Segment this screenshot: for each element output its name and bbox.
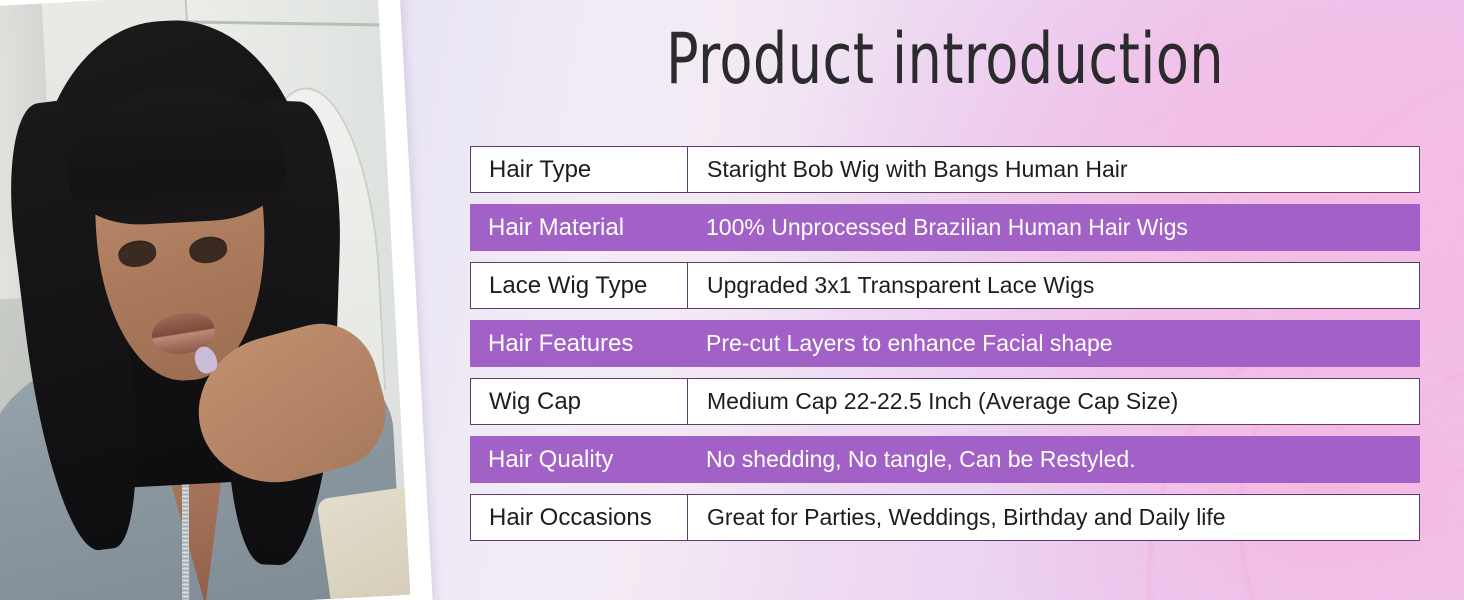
spec-row-value: Upgraded 3x1 Transparent Lace Wigs	[688, 263, 1419, 308]
spec-row-label: Hair Type	[471, 147, 688, 192]
spec-row-value: Pre-cut Layers to enhance Facial shape	[687, 320, 1420, 367]
page-title: Product introduction	[537, 24, 1354, 94]
spec-row-value: No shedding, No tangle, Can be Restyled.	[687, 436, 1420, 483]
product-introduction-banner: Product introduction Hair TypeStaright B…	[0, 0, 1464, 600]
photo-bag	[316, 487, 410, 600]
spec-row-label: Wig Cap	[471, 379, 688, 424]
spec-row: Hair Material100% Unprocessed Brazilian …	[470, 204, 1420, 251]
spec-row: Wig CapMedium Cap 22-22.5 Inch (Average …	[470, 378, 1420, 425]
spec-row-value: Medium Cap 22-22.5 Inch (Average Cap Siz…	[688, 379, 1419, 424]
product-photo-frame	[0, 0, 433, 600]
spec-row: Hair FeaturesPre-cut Layers to enhance F…	[470, 320, 1420, 367]
spec-row: Hair QualityNo shedding, No tangle, Can …	[470, 436, 1420, 483]
spec-row-label: Hair Features	[470, 320, 687, 367]
spec-row-value: Great for Parties, Weddings, Birthday an…	[688, 495, 1419, 540]
spec-row-value: Staright Bob Wig with Bangs Human Hair	[688, 147, 1419, 192]
spec-row-label: Hair Occasions	[471, 495, 688, 540]
spec-row-value: 100% Unprocessed Brazilian Human Hair Wi…	[687, 204, 1420, 251]
spec-row: Hair OccasionsGreat for Parties, Wedding…	[470, 494, 1420, 541]
product-spec-table: Hair TypeStaright Bob Wig with Bangs Hum…	[470, 146, 1420, 541]
product-photo	[0, 0, 410, 600]
spec-row: Lace Wig TypeUpgraded 3x1 Transparent La…	[470, 262, 1420, 309]
spec-row: Hair TypeStaright Bob Wig with Bangs Hum…	[470, 146, 1420, 193]
spec-row-label: Hair Quality	[470, 436, 687, 483]
spec-row-label: Hair Material	[470, 204, 687, 251]
spec-row-label: Lace Wig Type	[471, 263, 688, 308]
